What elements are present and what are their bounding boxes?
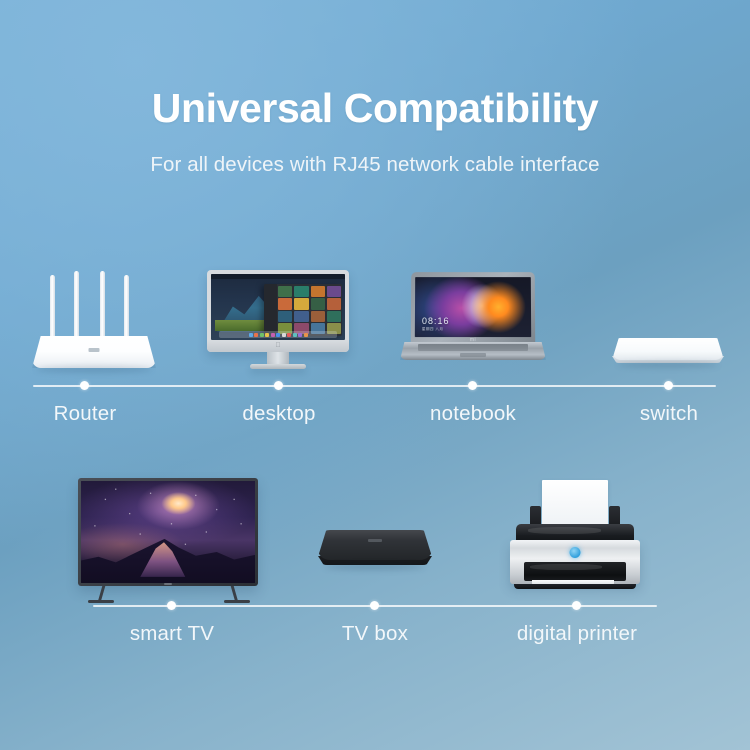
imac-stand-foot xyxy=(250,364,306,369)
tv-foot-left xyxy=(88,600,114,603)
imac-photo-app-window xyxy=(264,284,342,336)
router-antenna-3 xyxy=(100,271,105,341)
device-label-desktop: desktop xyxy=(242,402,315,426)
page-subtitle: For all devices with RJ45 network cable … xyxy=(0,153,750,177)
switch-shadow xyxy=(618,362,718,368)
device-label-smart-tv: smart TV xyxy=(130,622,214,646)
router-icon xyxy=(32,272,156,368)
apple-logo-icon:  xyxy=(275,342,280,349)
laptop-clock-widget: 08:16 星期四 八月 xyxy=(422,317,450,332)
printer-paper xyxy=(542,480,608,528)
laptop-icon: 08:16 星期四 八月 mi xyxy=(400,272,546,364)
tv-box-body xyxy=(317,530,433,560)
device-label-switch: switch xyxy=(640,402,698,426)
laptop-trackpad xyxy=(460,353,486,357)
tv-box-icon xyxy=(317,530,433,572)
row-1-dot-desktop xyxy=(274,381,283,390)
imac-screen-content xyxy=(211,274,345,340)
imac-menubar xyxy=(211,274,345,279)
row-1-dot-notebook xyxy=(468,381,477,390)
desktop-computer-icon:  xyxy=(207,270,349,370)
router-antenna-2 xyxy=(74,271,79,341)
printer-icon xyxy=(508,480,642,592)
tv-foot-right xyxy=(224,600,250,603)
printer-front-tray xyxy=(524,562,626,581)
imac-chin:  xyxy=(207,340,349,352)
tv-screen xyxy=(81,481,255,583)
imac-photo-column xyxy=(327,286,341,334)
tv-brand-logo xyxy=(164,583,172,585)
row-2-dot-printer xyxy=(572,601,581,610)
imac-app-sidebar xyxy=(264,284,277,336)
network-switch-icon xyxy=(612,338,724,370)
row-2-dot-tv-box xyxy=(370,601,379,610)
router-antenna-1 xyxy=(50,275,55,341)
switch-body xyxy=(612,338,724,360)
imac-photo-column xyxy=(294,286,308,334)
tv-box-shadow xyxy=(325,564,425,570)
marketing-banner: Universal Compatibility For all devices … xyxy=(0,0,750,750)
imac-display:  xyxy=(207,270,349,352)
device-label-router: Router xyxy=(54,402,117,426)
router-body xyxy=(32,336,156,368)
laptop-base xyxy=(400,342,546,360)
tv-bezel xyxy=(78,478,258,586)
router-shadow xyxy=(36,366,152,373)
device-label-tv-box: TV box xyxy=(342,622,408,646)
imac-dock xyxy=(219,331,337,338)
laptop-keyboard xyxy=(418,344,529,351)
printer-body xyxy=(510,540,640,584)
imac-photo-column xyxy=(311,286,325,334)
device-label-digital-printer: digital printer xyxy=(517,622,637,646)
page-title: Universal Compatibility xyxy=(0,86,750,131)
imac-photo-column xyxy=(278,286,292,334)
laptop-lid: 08:16 星期四 八月 mi xyxy=(411,272,535,344)
laptop-screen: 08:16 星期四 八月 xyxy=(415,277,531,337)
row-1-dot-router xyxy=(80,381,89,390)
router-antenna-4 xyxy=(124,275,129,341)
header: Universal Compatibility For all devices … xyxy=(0,86,750,177)
row-2-dot-smart-tv xyxy=(167,601,176,610)
row-1-rail xyxy=(33,385,716,387)
row-1-dot-switch xyxy=(664,381,673,390)
device-label-notebook: notebook xyxy=(430,402,516,426)
printer-base xyxy=(514,584,636,589)
tv-box-logo xyxy=(368,539,382,542)
television-icon xyxy=(78,478,258,604)
power-button-icon[interactable] xyxy=(570,547,581,558)
